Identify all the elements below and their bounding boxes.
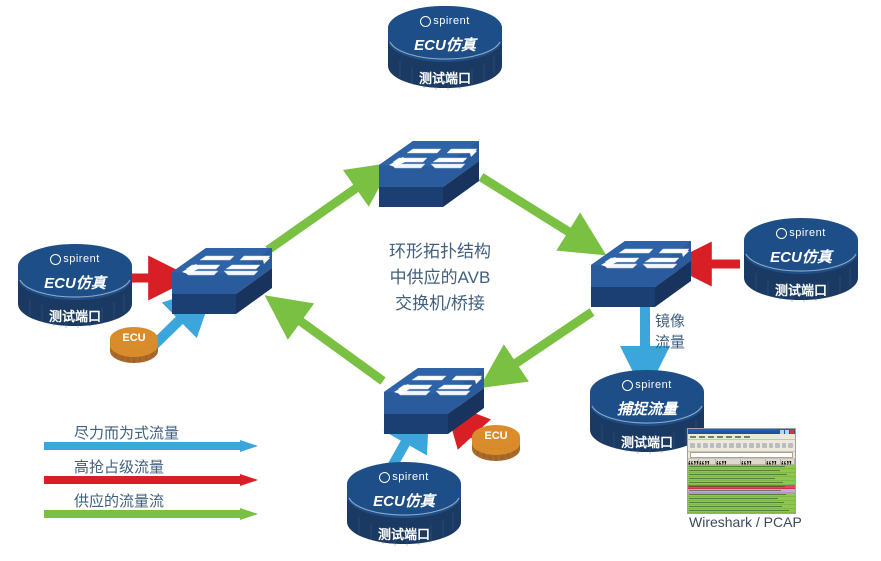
legend: 尽力而为式流量 高抢占级流量 供应的流量流: [44, 424, 314, 524]
spirent-node-bottom-emulator[interactable]: spirent ECU仿真 测试端口: [345, 462, 463, 550]
switch-top[interactable]: [373, 135, 485, 218]
legend-swatch-green: [44, 508, 259, 520]
mirror-traffic-label: 镜像 流量: [655, 311, 685, 353]
wireshark-toolbar: [688, 440, 795, 452]
ecu-node-bottom[interactable]: ECU: [470, 423, 522, 463]
switch-left[interactable]: [166, 242, 278, 325]
arrow-top-switch-to-right-switch: [481, 177, 585, 242]
switch-right[interactable]: [585, 235, 697, 318]
wireshark-title-bar: [688, 429, 795, 434]
ecu-node-left[interactable]: ECU: [108, 325, 160, 365]
arrow-bottom-switch-to-left-switch: [285, 310, 383, 381]
arrow-right-switch-to-bottom-switch: [500, 312, 592, 374]
wireshark-filter-bar[interactable]: [688, 452, 795, 459]
legend-item-high-preemption-traffic: 高抢占级流量: [44, 458, 314, 492]
wireshark-screenshot[interactable]: [687, 428, 796, 514]
legend-swatch-blue: [44, 440, 259, 452]
network-topology-diagram: spirent ECU仿真 测试端口 spirent ECU仿真 测试端口: [0, 0, 881, 561]
spirent-node-left-emulator[interactable]: spirent ECU仿真 测试端口: [16, 244, 134, 332]
legend-item-best-effort-traffic: 尽力而为式流量: [44, 424, 314, 458]
spirent-node-top-emulator[interactable]: spirent ECU仿真 测试端口: [386, 6, 504, 94]
diagram-center-label: 环形拓扑结构 中供应的AVB 交换机/桥接: [360, 239, 520, 317]
spirent-node-right-emulator[interactable]: spirent ECU仿真 测试端口: [742, 218, 860, 306]
legend-item-provisioned-traffic-stream: 供应的流量流: [44, 492, 314, 526]
arrow-left-switch-to-top-switch: [268, 177, 372, 250]
legend-swatch-red: [44, 474, 259, 486]
wireshark-caption: Wireshark / PCAP: [689, 514, 802, 530]
